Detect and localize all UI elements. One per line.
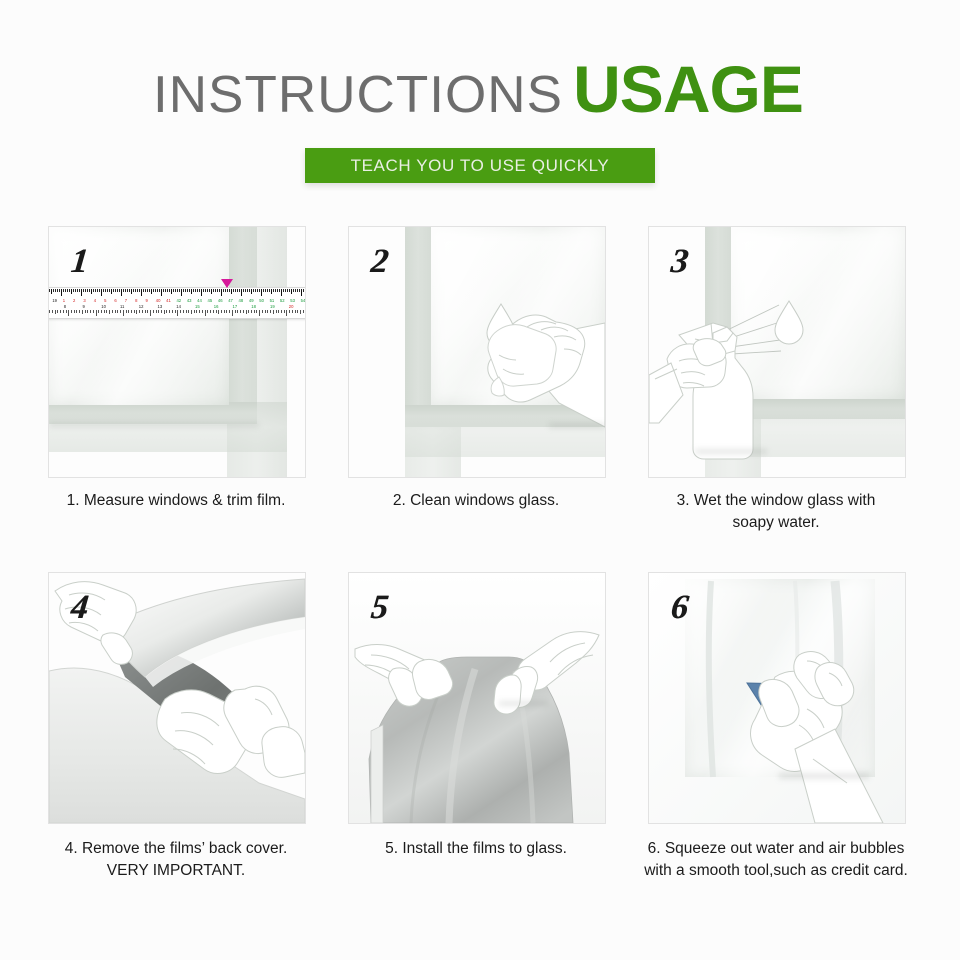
frame-shadow	[49, 423, 259, 427]
window-frame-bottom-outer	[49, 402, 287, 452]
step-caption-6-line1: 6. Squeeze out water and air bubbles	[634, 838, 918, 860]
step-caption-4-line2: VERY IMPORTANT.	[48, 860, 304, 882]
step-image-6: 6	[648, 572, 906, 824]
tape-position-marker-icon	[221, 279, 233, 288]
step-caption-1: 1. Measure windows & trim film.	[48, 490, 304, 512]
water-droplet-icon	[775, 301, 803, 344]
step-card-2: 2 2. Clean windows glass.	[348, 226, 604, 536]
step-card-3: 3 3. Wet the window glass with soapy wat…	[648, 226, 904, 536]
step-image-5: 5	[348, 572, 606, 824]
step-image-3: 3	[648, 226, 906, 478]
hand-shadow	[499, 701, 549, 706]
step-card-4: 4 4. Remove the films’ back cover. VERY …	[48, 572, 304, 892]
step-caption-3-line1: 3. Wet the window glass with	[648, 490, 904, 512]
bottle-shadow	[695, 449, 767, 454]
step-caption-3-line2: soapy water.	[648, 512, 904, 534]
step-caption-2: 2. Clean windows glass.	[348, 490, 604, 512]
step-caption-1-line1: 1. Measure windows & trim film.	[48, 490, 304, 512]
step-caption-6: 6. Squeeze out water and air bubbles wit…	[634, 838, 918, 882]
measuring-tape: 1819123456789404142434445464748495051525…	[48, 287, 306, 319]
step-caption-4-line1: 4. Remove the films’ back cover.	[48, 838, 304, 860]
step-caption-3: 3. Wet the window glass with soapy water…	[648, 490, 904, 534]
step-image-1: 1819123456789404142434445464748495051525…	[48, 226, 306, 478]
hand-shadow	[549, 423, 605, 428]
hand-shadow	[779, 773, 869, 779]
step-caption-5: 5. Install the films to glass.	[348, 838, 604, 860]
step-card-5: 5 5. Install the films to glass.	[348, 572, 604, 892]
step-card-6: 6 6. Squeeze out water and air bubbles w…	[648, 572, 904, 892]
step-image-4: 4	[48, 572, 306, 824]
steps-grid: 1819123456789404142434445464748495051525…	[0, 0, 960, 960]
step-caption-6-line2: with a smooth tool,such as credit card.	[634, 860, 918, 882]
step-caption-2-line1: 2. Clean windows glass.	[348, 490, 604, 512]
step-caption-5-line1: 5. Install the films to glass.	[348, 838, 604, 860]
step-caption-4: 4. Remove the films’ back cover. VERY IM…	[48, 838, 304, 882]
step-card-1: 1819123456789404142434445464748495051525…	[48, 226, 304, 536]
step-image-2: 2	[348, 226, 606, 478]
